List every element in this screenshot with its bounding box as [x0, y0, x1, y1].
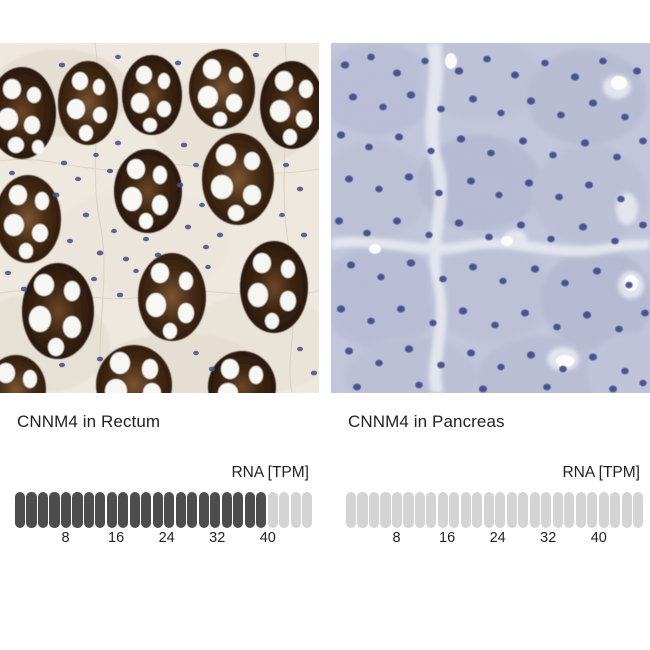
rna-bar-segment	[187, 492, 197, 528]
panel-caption-rectum: CNNM4 in Rectum	[17, 412, 160, 432]
rna-bar-segment	[302, 492, 312, 528]
rna-bar-segment	[72, 492, 82, 528]
rna-bar-segment	[107, 492, 117, 528]
pancreas-tissue-image	[331, 43, 650, 393]
rna-bar-segment	[210, 492, 220, 528]
rna-bar-segment	[130, 492, 140, 528]
rna-bar-segment	[564, 492, 574, 528]
rna-unit-label-pancreas: RNA [TPM]	[562, 464, 640, 482]
rna-bar-segment	[392, 492, 402, 528]
rna-unit-label-rectum: RNA [TPM]	[231, 464, 309, 482]
rna-tick-label: 40	[260, 530, 276, 546]
rna-bar-segment	[357, 492, 367, 528]
rna-tick-label: 24	[159, 530, 175, 546]
rna-bar-segment	[346, 492, 356, 528]
rna-tick-label: 40	[591, 530, 607, 546]
rna-bar-segment	[576, 492, 586, 528]
rna-bar-segment	[495, 492, 505, 528]
rna-bar-segment	[95, 492, 105, 528]
rna-bar-segment	[587, 492, 597, 528]
rna-tick-label: 8	[62, 530, 70, 546]
rna-bar-segment	[141, 492, 151, 528]
rna-axis-ticks-pancreas: 816243240	[346, 530, 643, 550]
rna-bar-segment	[438, 492, 448, 528]
rna-bar-segment	[176, 492, 186, 528]
rna-bar-segment	[369, 492, 379, 528]
rna-bar-segment	[599, 492, 609, 528]
rna-bar-segment	[199, 492, 209, 528]
rna-bar-segment	[633, 492, 643, 528]
rna-bar-segment	[84, 492, 94, 528]
figure-root: CNNM4 in Rectum RNA [TPM] 816243240	[0, 0, 650, 650]
rna-bar-segment	[541, 492, 551, 528]
rna-bar-segment	[449, 492, 459, 528]
rna-bar-segment	[26, 492, 36, 528]
rna-axis-ticks-rectum: 816243240	[15, 530, 312, 550]
rna-tick-label: 32	[540, 530, 556, 546]
rna-bar-segment	[279, 492, 289, 528]
rna-bar-segment	[291, 492, 301, 528]
rna-tick-label: 8	[393, 530, 401, 546]
rna-bar-segment	[49, 492, 59, 528]
rna-bar-segment	[380, 492, 390, 528]
rna-expression-bar-rectum[interactable]	[15, 492, 312, 528]
rna-bar-segment	[426, 492, 436, 528]
rna-bar-segment	[15, 492, 25, 528]
rectum-tissue-image	[0, 43, 319, 393]
rna-bar-segment	[484, 492, 494, 528]
rna-tick-label: 24	[490, 530, 506, 546]
panel-pancreas: CNNM4 in Pancreas RNA [TPM] 816243240	[331, 0, 650, 650]
rna-bar-segment	[153, 492, 163, 528]
rna-bar-segment	[222, 492, 232, 528]
rna-bar-segment	[256, 492, 266, 528]
rna-bar-segment	[233, 492, 243, 528]
rna-bar-segment	[403, 492, 413, 528]
rna-tick-label: 16	[439, 530, 455, 546]
rna-bar-segment	[472, 492, 482, 528]
rna-bar-segment	[415, 492, 425, 528]
pancreas-immunohistochemistry-micrograph[interactable]	[331, 43, 650, 393]
rectum-immunohistochemistry-micrograph[interactable]	[0, 43, 319, 393]
rna-bar-segment	[164, 492, 174, 528]
rna-bar-segment	[461, 492, 471, 528]
rna-bar-segment	[610, 492, 620, 528]
rna-tick-label: 32	[209, 530, 225, 546]
rna-bar-segment	[530, 492, 540, 528]
rna-tick-label: 16	[108, 530, 124, 546]
rna-bar-segment	[118, 492, 128, 528]
panel-caption-pancreas: CNNM4 in Pancreas	[348, 412, 505, 432]
rna-bar-segment	[507, 492, 517, 528]
rna-bar-segment	[245, 492, 255, 528]
rna-bar-segment	[38, 492, 48, 528]
panel-rectum: CNNM4 in Rectum RNA [TPM] 816243240	[0, 0, 319, 650]
rna-bar-segment	[518, 492, 528, 528]
rna-bar-segment	[553, 492, 563, 528]
rna-expression-bar-pancreas[interactable]	[346, 492, 643, 528]
rna-bar-segment	[268, 492, 278, 528]
rna-bar-segment	[61, 492, 71, 528]
rna-bar-segment	[622, 492, 632, 528]
